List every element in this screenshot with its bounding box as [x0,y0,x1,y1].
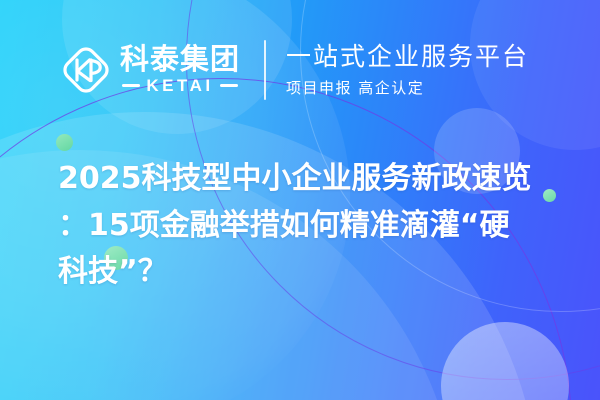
promo-banner: 科泰集团 KETAI 一站式企业服务平台 项目申报 高企认定 2025科技型中小… [0,0,600,400]
page-title-line-3: 科技”？ [58,249,568,296]
slogan-main: 一站式企业服务平台 [286,42,529,73]
rule-left-icon [122,84,140,87]
rule-right-icon [220,84,238,87]
page-title-line-2: ：15项金融举措如何精准滴灌“硬 [58,203,568,250]
slogan-sub: 项目申报 高企认定 [286,77,529,98]
slogan-block: 一站式企业服务平台 项目申报 高企认定 [286,42,529,99]
brand-logo: 科泰集团 KETAI [58,42,240,98]
brand-name-en: KETAI [146,76,213,96]
brand-wordmark: 科泰集团 KETAI [120,44,240,95]
header-divider [264,40,266,100]
ketai-logo-icon [58,42,114,98]
brand-name-cn: 科泰集团 [120,44,240,74]
page-title-line-1: 2025科技型中小企业服务新政速览 [58,156,568,203]
page-title: 2025科技型中小企业服务新政速览 ：15项金融举措如何精准滴灌“硬 科技”？ [58,156,568,296]
banner-header: 科泰集团 KETAI 一站式企业服务平台 项目申报 高企认定 [0,30,600,110]
green-dot-icon-a [56,134,73,151]
brand-name-en-row: KETAI [120,76,240,96]
background-circle-bottom-right [441,322,569,400]
